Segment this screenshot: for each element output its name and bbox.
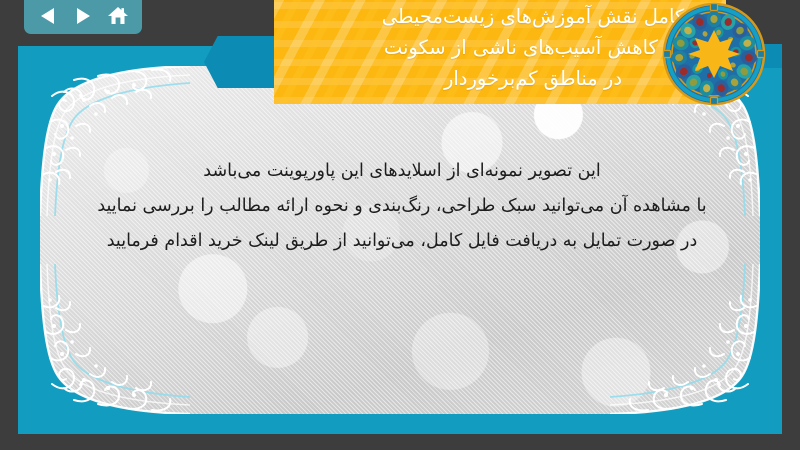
body-line-2: با مشاهده آن می‌توانید سبک طراحی، رنگ‌بن…: [74, 189, 730, 224]
forward-triangle-icon: [73, 7, 93, 25]
title-banner: کامل نقش آموزش‌های زیست‌محیطی در کاهش آس…: [274, 0, 726, 104]
slide-canvas: این تصویر نمونه‌ای از اسلایدهای این پاور…: [40, 66, 760, 414]
home-button[interactable]: [104, 3, 132, 29]
ornamental-medallion-icon: [662, 2, 766, 106]
corner-ornament-bottom-right: [610, 264, 760, 414]
slide-body-text: این تصویر نمونه‌ای از اسلایدهای این پاور…: [74, 154, 730, 259]
home-icon: [107, 6, 129, 26]
slide-viewer: این تصویر نمونه‌ای از اسلایدهای این پاور…: [0, 0, 800, 450]
forward-button[interactable]: [69, 3, 97, 29]
body-line-3: در صورت تمایل به دریافت فایل کامل، می‌تو…: [74, 224, 730, 259]
banner-arrow-tab: [204, 36, 280, 88]
body-line-1: این تصویر نمونه‌ای از اسلایدهای این پاور…: [74, 154, 730, 189]
corner-ornament-bottom-left: [40, 264, 190, 414]
back-button[interactable]: [34, 3, 62, 29]
navigation-toolbar: [24, 0, 142, 34]
back-triangle-icon: [38, 7, 58, 25]
slide-title: کامل نقش آموزش‌های زیست‌محیطی در کاهش آس…: [274, 0, 726, 104]
